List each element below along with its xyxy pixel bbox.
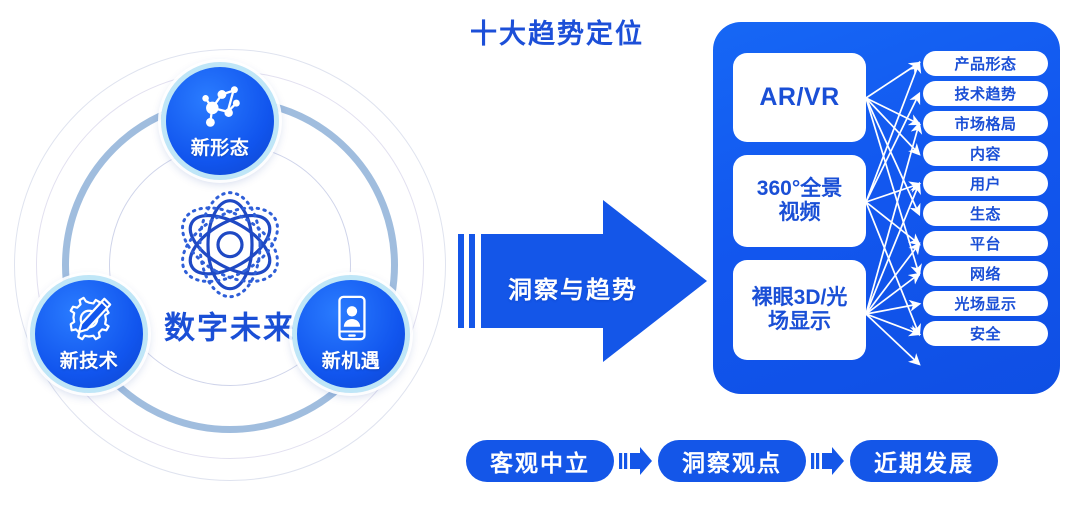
source-card-arvr[interactable]: AR/VR [733,53,866,142]
trend-pill-platform[interactable]: 平台 [923,231,1048,256]
trend-pill-user[interactable]: 用户 [923,171,1048,196]
smartphone-user-icon [324,294,378,344]
pill-chain: 客观中立 洞察观点 近期发展 [466,440,998,482]
chain-arrow-icon-1 [614,440,658,482]
circle-node-label: 新技术 [60,346,119,373]
trend-pill-tech-trend[interactable]: 技术趋势 [923,81,1048,106]
trend-pill-market[interactable]: 市场格局 [923,111,1048,136]
trends-panel: AR/VR 360°全景 视频 裸眼3D/光 场显示 产品形态 技术趋势 市场格… [713,22,1060,394]
trend-pill-product-form[interactable]: 产品形态 [923,51,1048,76]
chain-pill-recent-dev[interactable]: 近期发展 [850,440,998,482]
circle-node-label: 新形态 [191,133,250,160]
atom-icon [172,189,288,301]
infographic-canvas: 数字未来 新形态 新技术 [0,0,1080,512]
source-card-naked-eye-3d[interactable]: 裸眼3D/光 场显示 [733,260,866,360]
circle-node-label: 新机遇 [322,346,381,373]
molecule-network-icon [193,81,247,131]
trend-pill-content[interactable]: 内容 [923,141,1048,166]
page-title: 十大趋势定位 [470,12,644,51]
trend-pill-ecosystem[interactable]: 生态 [923,201,1048,226]
circle-node-new-tech[interactable]: 新技术 [30,275,148,393]
circle-node-new-form[interactable]: 新形态 [161,62,279,180]
trend-pill-network[interactable]: 网络 [923,261,1048,286]
circle-diagram: 数字未来 新形态 新技术 [0,20,460,510]
gear-pencil-icon [62,294,116,344]
chain-arrow-icon-2 [806,440,850,482]
chain-pill-insight[interactable]: 洞察观点 [658,440,806,482]
chain-pill-objective[interactable]: 客观中立 [466,440,614,482]
circle-node-new-opportunity[interactable]: 新机遇 [292,275,410,393]
trend-pill-light-field[interactable]: 光场显示 [923,291,1048,316]
trend-pill-security[interactable]: 安全 [923,321,1048,346]
source-card-360-video[interactable]: 360°全景 视频 [733,155,866,247]
flow-arrow-label: 洞察与趋势 [508,270,638,305]
